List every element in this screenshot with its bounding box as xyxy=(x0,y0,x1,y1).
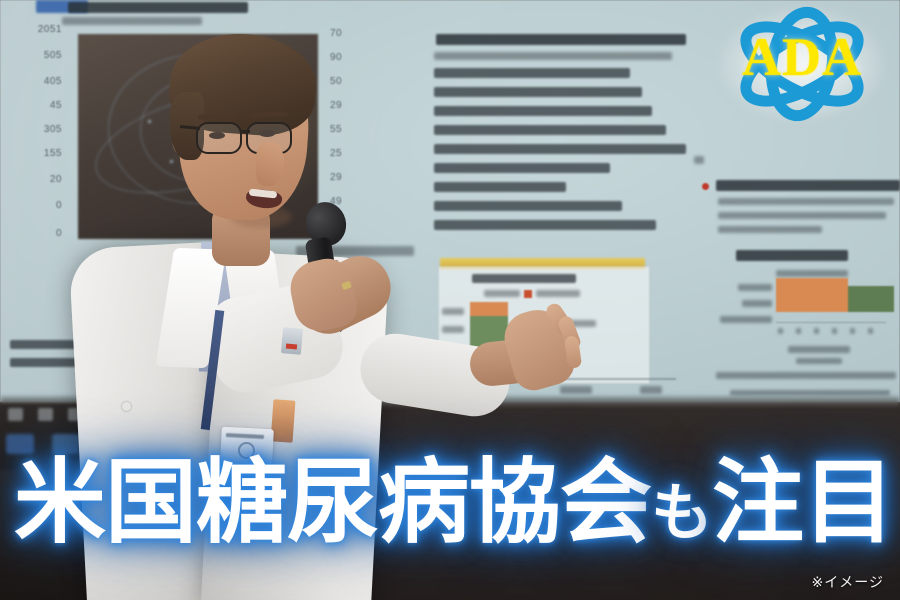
right-chart-tick-4 xyxy=(832,328,837,334)
right-slide-heading xyxy=(716,180,900,191)
screenshot-root: 2051 505 405 45 305 155 20 0 0 70 90 50 … xyxy=(0,0,900,600)
left-axis-tick-8: 0 xyxy=(32,228,62,239)
center-chart-bar-orange xyxy=(470,302,508,316)
headline-main: 米国糖尿病協会 xyxy=(14,448,651,556)
left-axis-tick-6: 20 xyxy=(32,174,62,185)
headline-text: 米国糖尿病協会も注目 xyxy=(14,452,894,563)
right-chart-bar-orange xyxy=(776,278,848,312)
right-chart-xlabel xyxy=(788,346,850,353)
right-slide-chart-title xyxy=(736,250,848,261)
left-axis-tick-5: 155 xyxy=(32,148,62,159)
right-chart-cat-1 xyxy=(738,284,772,291)
ada-logo: ADA xyxy=(716,6,888,122)
taskbar-icon-1 xyxy=(8,408,23,421)
center-line-2 xyxy=(434,52,672,60)
right-chart-cat-3 xyxy=(720,316,772,323)
nose xyxy=(256,142,284,186)
right-slide-source xyxy=(716,372,896,379)
coat-button-1 xyxy=(122,402,131,411)
right-slide-stray-mark xyxy=(694,156,704,164)
left-axis-tick-4: 305 xyxy=(32,124,62,135)
right-chart-tick-1 xyxy=(778,328,783,334)
eyeglasses-lens-left xyxy=(196,122,242,154)
right-chart-xsublabel xyxy=(796,358,842,364)
center-line-3 xyxy=(434,68,630,78)
left-axis-tick-2: 405 xyxy=(32,76,62,87)
center-line-8 xyxy=(434,163,610,173)
right-slide-chart-subtitle xyxy=(776,270,848,277)
left-axis-tick-3: 45 xyxy=(32,100,62,111)
slide-right-panel xyxy=(700,150,900,400)
center-line-6 xyxy=(434,125,666,135)
right-slide-bullet-icon xyxy=(702,183,709,190)
center-line-4 xyxy=(434,87,642,97)
right-chart-axis xyxy=(776,322,886,323)
right-chart-tick-2 xyxy=(796,328,801,334)
center-line-5 xyxy=(434,106,652,116)
headline-particle: も xyxy=(651,476,712,549)
center-chart-title xyxy=(472,274,576,283)
ada-logo-text: ADA xyxy=(716,28,888,86)
pocket-clip-accent xyxy=(286,344,297,350)
center-axis-label-3 xyxy=(640,386,662,394)
eyeglasses-bridge xyxy=(240,130,250,133)
headline-banner: 米国糖尿病協会も注目 xyxy=(14,452,894,562)
center-line-11 xyxy=(434,220,656,230)
right-chart-tick-6 xyxy=(868,328,873,334)
center-line-10 xyxy=(434,201,622,211)
left-axis-tick-0: 2051 xyxy=(32,24,62,35)
right-chart-tick-5 xyxy=(850,328,855,334)
left-axis-tick-1: 505 xyxy=(32,50,62,61)
right-slide-sub-3 xyxy=(718,226,822,233)
image-credit-note: ※イメージ xyxy=(812,572,884,592)
taskbar-icon-2 xyxy=(38,408,53,421)
center-chart-legend-b xyxy=(536,290,580,297)
center-axis-label-2 xyxy=(560,386,592,394)
right-chart-bars xyxy=(776,278,884,312)
slide-center-text xyxy=(432,30,697,360)
left-axis-tick-7: 0 xyxy=(32,200,62,211)
center-chart-legend-swatch xyxy=(524,290,532,298)
pocket-clip-badge xyxy=(281,327,303,355)
headline-tail: 注目 xyxy=(712,448,894,556)
center-line-7 xyxy=(434,144,686,154)
right-slide-sub-2 xyxy=(718,212,886,219)
right-chart-tick-3 xyxy=(814,328,819,334)
right-chart-cat-2 xyxy=(742,300,772,307)
center-chart-legend-a xyxy=(484,290,520,297)
right-slide-sub-1 xyxy=(718,198,894,205)
center-line-1 xyxy=(436,34,686,45)
right-chart-bar-green xyxy=(848,286,894,312)
pocket-credential xyxy=(271,399,296,442)
